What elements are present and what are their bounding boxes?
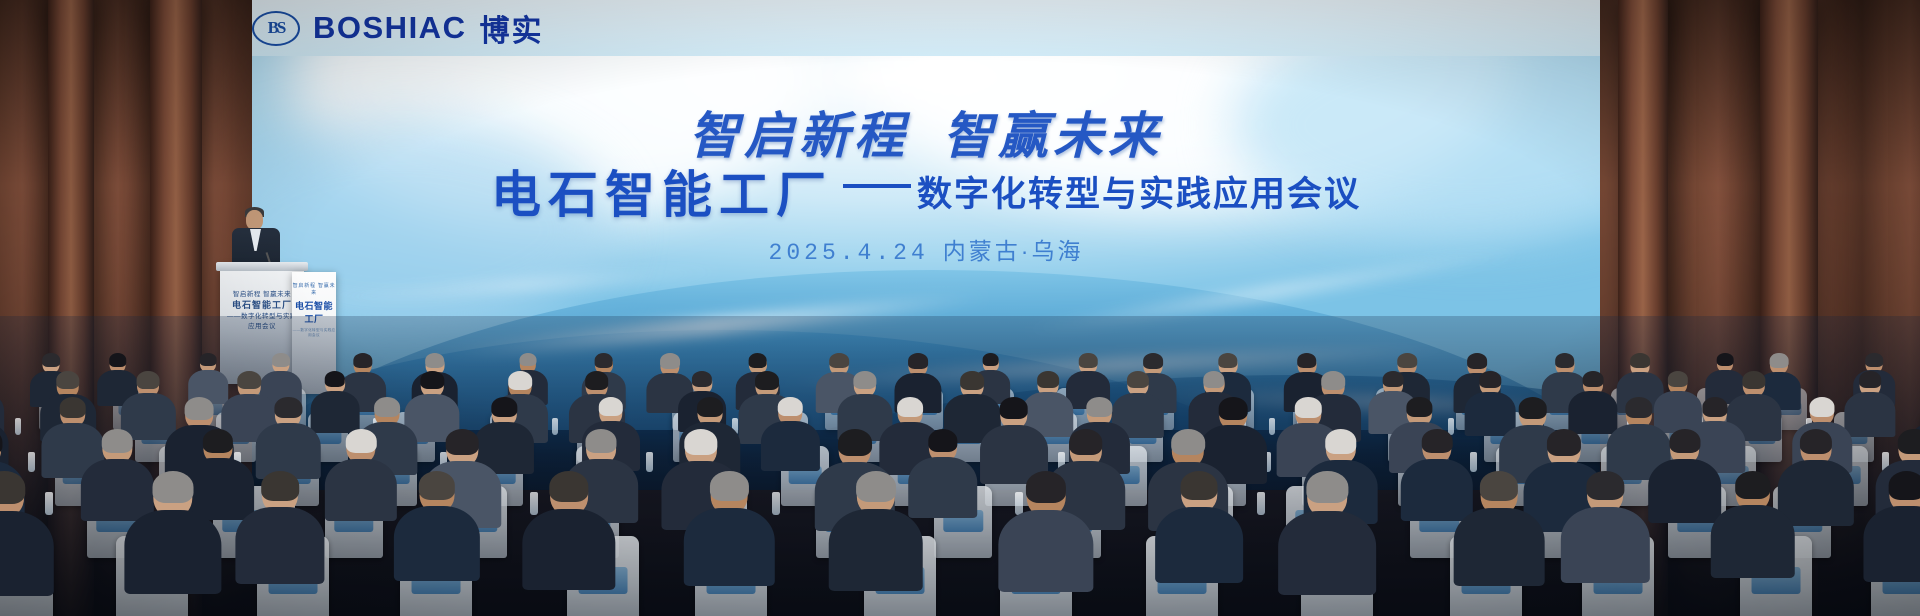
audience-hair (1407, 397, 1432, 417)
audience-hair (238, 371, 261, 389)
audience-hair (1127, 371, 1149, 388)
audience-shoulders (236, 507, 325, 584)
audience-shoulders (1155, 507, 1243, 583)
audience-hair (1800, 429, 1832, 454)
audience-hair (585, 371, 609, 390)
audience-hair (56, 371, 79, 389)
audience-hair (1143, 353, 1163, 369)
audience-hair (492, 397, 517, 417)
conference-sub-title: 数字化转型与实践应用会议 (917, 166, 1361, 217)
audience-hair (421, 371, 444, 389)
audience-hair (928, 429, 957, 452)
audience-hair (1397, 353, 1416, 368)
audience-hair (374, 397, 400, 417)
water-bottle (552, 418, 558, 435)
audience-hair (109, 353, 127, 367)
audience-hair (829, 353, 849, 368)
audience-hair (1026, 471, 1066, 503)
audience-hair (1669, 429, 1700, 453)
audience-hair (982, 353, 999, 366)
audience-shoulders (1279, 511, 1377, 595)
audience-shoulders (325, 459, 397, 522)
audience-hair (856, 471, 896, 502)
audience-member (124, 472, 221, 601)
water-bottle (1257, 492, 1265, 515)
audience-shoulders (522, 509, 615, 590)
audience-hair (275, 397, 302, 418)
audience-hair (1668, 371, 1688, 387)
audience-member (1863, 472, 1920, 587)
audience-hair (1321, 371, 1345, 390)
brand-name-chinese: 博实 (479, 6, 543, 50)
water-bottle (646, 452, 653, 472)
audience-hair (1325, 429, 1356, 454)
audience-shoulders (124, 510, 221, 594)
audience-member (1561, 472, 1649, 589)
audience-member (394, 472, 480, 586)
audience-hair (1480, 471, 1518, 501)
audience-hair (446, 429, 479, 455)
audience-member (1155, 472, 1243, 588)
audience-hair (137, 371, 160, 389)
main-title-row: 电石智能工厂 数字化转型与实践应用会议 (252, 155, 1600, 227)
conference-date: 2025.4.24 (769, 240, 929, 266)
audience-hair (185, 397, 214, 420)
podium-label-line1: 智启新程 智赢未来 (224, 290, 300, 299)
audience-shoulders (0, 511, 53, 596)
audience-shoulders (1454, 508, 1545, 586)
audience-hair (0, 471, 25, 504)
audience-hair (60, 397, 87, 418)
audience-hair (1069, 429, 1103, 455)
audience-hair (1865, 353, 1883, 367)
speaker-head (246, 210, 263, 230)
screen-logo-bar: BS BOSHIAC 博实 (252, 0, 1600, 56)
audience-hair (692, 371, 712, 387)
audience-hair (755, 371, 779, 390)
audience-hair (353, 353, 372, 368)
audience-hair (419, 471, 455, 500)
audience-hair (425, 353, 445, 368)
audience-hair (1079, 353, 1098, 368)
audience-hair (1203, 371, 1224, 388)
water-bottle (1269, 418, 1275, 435)
audience-member (1454, 472, 1545, 592)
conference-photo: BS BOSHIAC 博实 智启新程智赢未来 电石智能工厂 数字化转型与实践应用… (0, 0, 1920, 616)
audience-hair (1742, 371, 1765, 389)
audience-hair (1587, 471, 1624, 500)
podium-label-line2: 电石智能工厂 (224, 299, 300, 312)
audience-shoulders (684, 508, 774, 586)
audience-member (0, 472, 53, 602)
audience-area (0, 316, 1920, 616)
audience-hair (152, 471, 193, 503)
title-dash-rule (843, 184, 911, 188)
audience-hair (549, 471, 588, 502)
audience-hair (261, 471, 299, 501)
audience-hair (508, 371, 532, 390)
audience-hair (1087, 397, 1112, 417)
audience-hair (1703, 397, 1728, 417)
audience-shoulders (1863, 506, 1920, 581)
audience-hair (586, 429, 617, 453)
audience-hair (684, 429, 717, 455)
audience-member (999, 472, 1094, 598)
audience-hair (520, 353, 537, 366)
audience-hair (697, 397, 723, 417)
audience-hair (1898, 429, 1920, 454)
audience-hair (1218, 353, 1237, 368)
audience-hair (1480, 371, 1501, 388)
audience-shoulders (829, 509, 924, 591)
audience-hair (660, 353, 680, 369)
audience-member (256, 398, 320, 483)
audience-hair (710, 471, 748, 501)
audience-hair (1295, 397, 1321, 418)
audience-hair (999, 397, 1028, 419)
audience-hair (1582, 371, 1603, 387)
audience-shoulders (256, 423, 320, 479)
audience-hair (325, 371, 346, 387)
audience-hair (200, 353, 217, 366)
audience-hair (1518, 397, 1547, 419)
audience-hair (102, 429, 132, 453)
audience-hair (838, 429, 872, 456)
podium-top-surface (216, 262, 308, 271)
audience-hair (272, 353, 290, 367)
audience-hair (1037, 371, 1059, 388)
audience-hair (1555, 353, 1575, 368)
audience-hair (1297, 353, 1317, 368)
audience-member (1710, 472, 1794, 584)
conference-date-location: 2025.4.24内蒙古·乌海 (252, 232, 1600, 266)
audience-hair (1770, 353, 1789, 368)
conference-main-title: 电石智能工厂 (491, 155, 833, 227)
audience-member (1279, 472, 1377, 601)
audience-hair (42, 353, 60, 367)
audience-hair (1467, 353, 1487, 369)
audience-hair (1547, 429, 1581, 456)
audience-hair (1888, 471, 1920, 500)
water-bottle (28, 452, 35, 472)
boshiac-logo: BS BOSHIAC 博实 (252, 6, 543, 50)
audience-shoulders (1561, 507, 1649, 583)
audience-hair (1171, 429, 1205, 455)
audience-hair (1717, 353, 1734, 366)
banner-stand-line1: 智启新程 智赢未来 (292, 282, 336, 296)
audience-shoulders (761, 421, 819, 471)
audience-hair (853, 371, 876, 389)
audience-hair (1181, 471, 1218, 500)
audience-hair (346, 429, 376, 453)
audience-member (325, 430, 397, 526)
audience-hair (1630, 353, 1650, 368)
audience-hair (748, 353, 767, 368)
audience-member (236, 472, 325, 590)
audience-hair (961, 371, 985, 390)
audience-hair (778, 397, 803, 416)
audience-hair (1307, 471, 1348, 503)
audience-member (829, 472, 924, 597)
boshiac-logo-icon: BS (252, 11, 300, 46)
audience-hair (1735, 471, 1771, 499)
audience-member (761, 398, 819, 475)
audience-shoulders (1710, 505, 1794, 578)
conference-location: 内蒙古·乌海 (943, 238, 1084, 264)
audience-hair (599, 397, 623, 416)
brand-name-latin: BOSHIAC (313, 10, 466, 46)
audience-hair (897, 397, 923, 417)
audience-hair (1625, 397, 1652, 418)
audience-hair (908, 353, 928, 369)
audience-member (522, 472, 615, 596)
audience-shoulders (999, 510, 1094, 592)
audience-hair (1219, 397, 1248, 420)
audience-member (684, 472, 774, 592)
audience-shoulders (394, 506, 480, 581)
audience-hair (1810, 397, 1835, 417)
audience-hair (1859, 371, 1881, 388)
audience-hair (203, 429, 233, 453)
audience-hair (1383, 371, 1404, 387)
audience-hair (1422, 429, 1453, 453)
audience-hair (594, 353, 613, 368)
